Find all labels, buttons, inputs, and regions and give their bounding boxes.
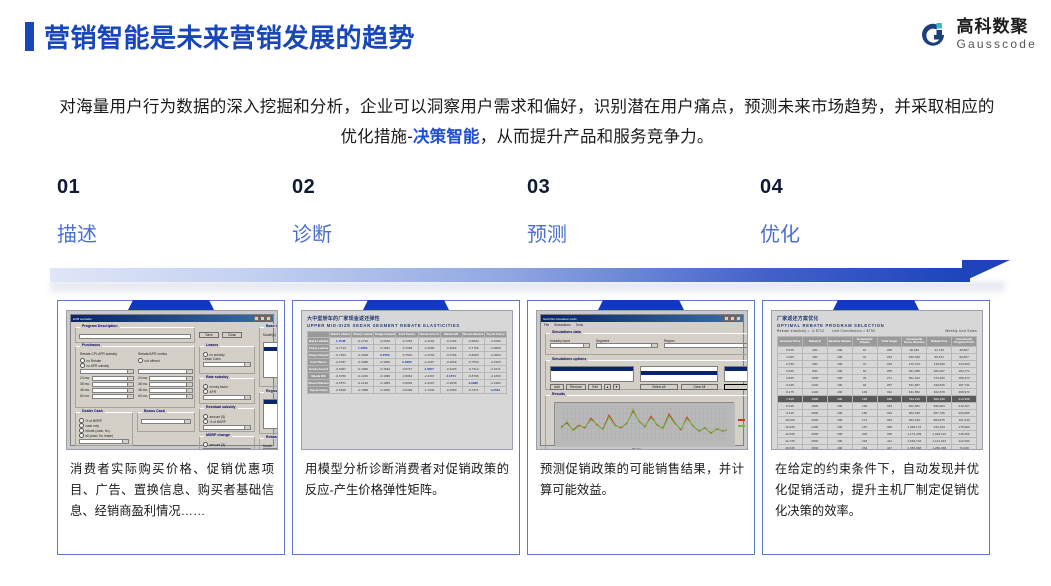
opt-cell: 145,306 <box>952 430 977 437</box>
opt-cell: 380 <box>877 423 902 430</box>
menu-simulations[interactable]: Simulations <box>554 323 570 327</box>
card-caption: 用模型分析诊断消费者对促销政策的反应-产生价格弹性矩阵。 <box>305 459 509 501</box>
matrix-title-cn: 大中型轿车的厂家现金返还弹性 <box>307 315 507 322</box>
matrix-cell: 1.2583 <box>352 345 374 352</box>
matrix-row-header: Buick LeSabre <box>308 338 330 345</box>
matrix-cell: -0.2742 <box>352 338 374 345</box>
table-row: 0.835100019078271451,323270,949180,374 <box>778 374 977 381</box>
matrix-row-header: Honda Accord <box>308 366 330 373</box>
term-60mo: 60 mo. <box>138 394 148 399</box>
opt-cell: 541,587 <box>902 381 927 388</box>
clear-all-button[interactable]: Clear All <box>681 384 719 390</box>
opt-cell: 1,353,968 <box>902 444 927 450</box>
opt-cell: 187,741 <box>952 381 977 388</box>
menu-file[interactable]: File <box>544 323 549 327</box>
elasticity-matrix-table: Buick LeSabreChevy LuminaDodge IntrepidF… <box>307 331 507 394</box>
opt-cell: 94 <box>852 381 877 388</box>
arrow-shadow <box>50 282 1005 296</box>
opt-cell: 2000 <box>802 409 827 416</box>
opt-cell: 270,704 <box>902 360 927 367</box>
models-listbox[interactable] <box>263 342 278 378</box>
matrix-cell: -0.7093 <box>396 345 418 352</box>
opt-cell: 255 <box>877 367 902 374</box>
opt-cell: 427 <box>877 444 902 450</box>
table-row: 0.1751400190109302631,852402,879208,973 <box>778 388 977 395</box>
opt-cell: 1,083,174 <box>902 423 927 430</box>
matrix-cell: -2.1497 <box>418 359 440 366</box>
matrix-cell: -2.1096 <box>484 338 506 345</box>
matrix-cell: -0.6189 <box>396 387 418 394</box>
opt-cell: 90,807 <box>952 353 977 360</box>
matrix-cell: -0.5497 <box>330 366 352 373</box>
opt-cell: 204,885 <box>952 409 977 416</box>
opt-cell: 170,990 <box>952 423 977 430</box>
opt-col-header: Customer Price <box>778 337 803 347</box>
move-down-button[interactable]: ▼ <box>613 384 620 390</box>
group-label: Leases <box>204 343 220 347</box>
opt-cell: 203 <box>852 430 877 437</box>
opt-cell: 271 <box>877 374 902 381</box>
opt-cell: 270,949 <box>927 374 952 381</box>
step-item-04: 04 优化 <box>760 176 800 247</box>
matrix-row-header: Nissan Maxima <box>308 380 330 387</box>
term-24mo: 24 mo. <box>138 376 148 381</box>
screenshot-elasticity-matrix: 大中型轿车的厂家现金返还弹性 UPPER MID-SIZE SEDAN SEGM… <box>301 310 513 450</box>
group-label: Program Description <box>80 324 120 328</box>
table-row: Ford Taurus-0.6787-0.2588-0.18600.9480-2… <box>308 359 507 366</box>
table-row: Buick LeSabre1.1548-0.2742-0.2018-0.7254… <box>308 338 507 345</box>
opt-cell: 206,007 <box>927 367 952 374</box>
paragraph-highlight: 决策智能 <box>413 128 480 146</box>
opt-cell: 302 <box>877 388 902 395</box>
table-row: 13.64530001902344271,353,9681,280,93873,… <box>778 444 977 450</box>
opt-col-header: Incremental Program Profit <box>952 337 977 347</box>
opt-cell: 8.195 <box>778 402 803 409</box>
step-number: 03 <box>527 176 567 199</box>
matrix-cell: -0.6064 <box>396 373 418 380</box>
brand-logo: 高科数聚 Gausscode <box>917 18 1037 50</box>
group-label: Residual subsidy <box>204 405 238 409</box>
opt-cell: 48,607 <box>952 346 977 353</box>
table-row: Mazda 626-0.6766-0.2230-0.1890-0.6064-2.… <box>308 373 507 380</box>
opt-cell: 190 <box>827 444 852 450</box>
group-label: Base incentives <box>264 324 278 328</box>
group-label: MSRP change <box>204 433 232 437</box>
slide-header: 营销智能是未来营销发展的趋势 高科数聚 Gausscode <box>0 0 1051 72</box>
opt-cell: 190 <box>827 416 852 423</box>
opt-cell: 902,645 <box>902 409 927 416</box>
matrix-cell: -0.1860 <box>374 359 396 366</box>
screenshot-simulation-tool: SimCAD simulation tools File Simulations… <box>536 310 748 450</box>
matrix-cell: 4.3257 <box>418 366 440 373</box>
matrix-cell: -0.7371 <box>462 387 484 394</box>
regions-listbox[interactable] <box>263 399 278 429</box>
table-row: 0.9752001901620690,26041,71048,607 <box>778 346 977 353</box>
matrix-cell: -2.2192 <box>418 338 440 345</box>
matrix-cell: 0.9480 <box>396 359 418 366</box>
opt-cell: 340,846 <box>927 381 952 388</box>
add-button[interactable]: Add <box>550 384 564 390</box>
opt-cell: 140 <box>852 402 877 409</box>
matrix-cell: -0.6571 <box>330 380 352 387</box>
opt-cell: 190 <box>827 374 852 381</box>
opt-cell: 3000 <box>802 444 827 450</box>
opt-cell: 1.025 <box>778 353 803 360</box>
step-label: 描述 <box>57 218 97 247</box>
card-caption: 消费者实际购买价格、促销优惠项目、广告、置换信息、购买者基础信息、经销商盈利情况… <box>70 459 274 522</box>
matrix-cell: -0.2838 <box>440 380 462 387</box>
matrix-cell: -0.1869 <box>374 380 396 387</box>
table-row: 10.0252200190171364992,910803,875191,040 <box>778 416 977 423</box>
opt-cell: 402,879 <box>927 388 952 395</box>
opt-title-en: OPTIMAL REBATE PROGRAM SELECTION <box>777 323 977 328</box>
opt-cell: 190 <box>827 346 852 353</box>
group-label: Region(s) <box>264 389 278 393</box>
matrix-cell: -0.2149 <box>352 380 374 387</box>
chart-xlabel: Weeks <box>632 447 641 450</box>
matrix-cell: -0.7706 <box>462 345 484 352</box>
opt-cell: 9.115 <box>778 409 803 416</box>
opt-cell: 1200 <box>802 381 827 388</box>
matrix-cell: -2.1663 <box>484 373 506 380</box>
step-number: 01 <box>57 176 97 199</box>
group-label: Simulations options <box>550 357 588 361</box>
graph-button[interactable]: Graph <box>724 384 748 390</box>
opt-cell: 667,746 <box>927 409 952 416</box>
opt-cell: 600 <box>802 360 827 367</box>
matrix-cell: -2.2606 <box>418 345 440 352</box>
term-48mo: 48 mo. <box>80 388 90 393</box>
step-labels: 01 描述 02 诊断 03 预测 04 优化 <box>0 176 1051 250</box>
legend-label: Dodge Caravan actual <box>747 424 748 428</box>
opt-cell: 218 <box>852 437 877 444</box>
opt-cell: 400 <box>802 353 827 360</box>
matrix-cell: -0.2588 <box>352 359 374 366</box>
opt-col-header: Incremental Gross Revenue <box>902 337 927 347</box>
edit-button[interactable]: Edit <box>588 384 602 390</box>
opt-cell: 206 <box>877 346 902 353</box>
matrix-cell: -2.2337 <box>418 373 440 380</box>
matrix-cell: -0.7500 <box>462 359 484 366</box>
opt-cell: 41,710 <box>927 346 952 353</box>
screenshot-optimization-table: 厂家返还方案优化 OPTIMAL REBATE PROGRAM SELECTIO… <box>771 310 983 450</box>
matrix-cell: -0.6787 <box>330 359 352 366</box>
table-row: 10.93524001901873801,083,174912,184170,9… <box>778 423 977 430</box>
opt-cell: 1400 <box>802 388 827 395</box>
opt-cell: 2600 <box>802 430 827 437</box>
move-up-button[interactable]: ▲ <box>604 384 611 390</box>
simulation-plot <box>554 402 734 446</box>
close-button[interactable]: Close <box>222 332 242 338</box>
opt-cell: 1,141,013 <box>927 437 952 444</box>
arrow-head-icon <box>962 260 1010 282</box>
opt-cell: 0.525 <box>778 367 803 374</box>
matrix-cell: -0.1890 <box>374 373 396 380</box>
opt-cell: 190 <box>827 430 852 437</box>
radio-not-offered[interactable]: not offered <box>138 358 193 363</box>
table-row: 9.1152000190156349902,645667,746204,885 <box>778 409 977 416</box>
remove-button[interactable]: Remove <box>566 384 586 390</box>
step-label: 诊断 <box>292 218 332 247</box>
opt-cell: 722,115 <box>902 395 927 402</box>
card-describe[interactable]: EVB testradio Program Description Save C… <box>57 300 285 555</box>
opt-cell: 912,184 <box>927 423 952 430</box>
term-36mo: 36 mo. <box>80 382 90 387</box>
matrix-cell: -0.2692 <box>440 345 462 352</box>
opt-cell: 140,840 <box>927 360 952 367</box>
table-row: Honda Accord-0.5497-0.1986-0.1542-0.5747… <box>308 366 507 373</box>
matrix-cell: 4.2561 <box>484 387 506 394</box>
opt-cell: 190 <box>827 437 852 444</box>
matrix-cell: -0.1986 <box>352 366 374 373</box>
select-all-button[interactable]: Select All <box>640 384 678 390</box>
matrix-cell: -0.1991 <box>374 345 396 352</box>
matrix-cell: -0.7254 <box>396 338 418 345</box>
page-title: 营销智能是未来营销发展的趋势 <box>44 18 415 55</box>
opt-title-cn: 厂家返还方案优化 <box>777 315 977 322</box>
table-row: Dodge Intrepid-0.7204-0.29280.8752-0.751… <box>308 352 507 359</box>
opt-cell: 364 <box>877 416 902 423</box>
opt-cell: 7.215 <box>778 395 803 402</box>
matrix-cell: -0.8340 <box>462 338 484 345</box>
opt-col-header: Rebate $ <box>802 337 827 347</box>
matrix-cell: -0.7713 <box>330 345 352 352</box>
opt-cell: 0.975 <box>778 346 803 353</box>
radio-apr[interactable]: APR <box>203 389 251 394</box>
opt-cell: 2800 <box>802 437 827 444</box>
opt-cell: 62 <box>852 367 877 374</box>
opt-cell: 0.445 <box>778 381 803 388</box>
slide: 营销智能是未来营销发展的趋势 高科数聚 Gausscode 对海量用户行为数据的… <box>0 0 1051 586</box>
step-number: 02 <box>292 176 332 199</box>
opt-cell: 200 <box>802 346 827 353</box>
opt-cell: 16 <box>852 346 877 353</box>
opt-cell: 171 <box>852 416 877 423</box>
meta-weekly-sales: Weekly Unit Sales <box>945 329 977 333</box>
opt-cell: 190 <box>827 367 852 374</box>
subgroup-label: Rebate CPI-APR subsidy <box>80 352 134 356</box>
opt-cell: 333 <box>877 402 902 409</box>
group-label: Rate subsidy <box>204 375 230 379</box>
table-row: 0.52580019062255361,058206,007154,771 <box>778 367 977 374</box>
term-36mo: 36 mo. <box>138 382 148 387</box>
table-row: 7.2151600190125318722,115509,239213,508 <box>778 395 977 402</box>
table-row: 1.02540019031224180,32989,67290,807 <box>778 353 977 360</box>
matrix-cell: -0.8706 <box>462 373 484 380</box>
subgroup-label: Rebate/APR combo <box>138 352 193 356</box>
opt-cell: 154,771 <box>952 367 977 374</box>
optimization-table: Customer PriceRebate $Baseline VolumeInc… <box>777 336 977 450</box>
table-row: 11.83526001902033961,173,4391,028,122145… <box>778 430 977 437</box>
opt-cell: 240 <box>877 360 902 367</box>
window-title: EVB testradio <box>73 317 92 321</box>
radio-no-apr[interactable]: no APR subsidy <box>80 363 134 368</box>
group-label: Purchases <box>80 343 102 347</box>
matrix-cell: -0.2928 <box>352 352 374 359</box>
opt-col-header: Baseline Volume <box>827 337 852 347</box>
opt-cell: 396 <box>877 430 902 437</box>
opt-cell: 224 <box>877 353 902 360</box>
matrix-cell: -2.3207 <box>418 380 440 387</box>
opt-cell: 1600 <box>802 395 827 402</box>
opt-cell: 1,280,938 <box>927 444 952 450</box>
table-row: 0.445120019094287541,587340,846187,741 <box>778 381 977 388</box>
step-item-01: 01 描述 <box>57 176 97 247</box>
opt-cell: 190 <box>827 409 852 416</box>
matrix-cell: -1.7436 <box>418 387 440 394</box>
opt-cell: 47 <box>852 360 877 367</box>
opt-cell: 2.755 <box>778 360 803 367</box>
opt-cell: 125 <box>852 395 877 402</box>
matrix-cell: -0.1660 <box>374 387 396 394</box>
radio-pct-msrp[interactable]: % of MSRP <box>203 419 251 424</box>
label-models: Model(s) <box>263 333 278 337</box>
opt-cell: 0.175 <box>778 388 803 395</box>
opt-col-header: Total Target <box>877 337 902 347</box>
opt-cell: 112,690 <box>952 437 977 444</box>
matrix-cell: -0.8490 <box>462 352 484 359</box>
step-item-02: 02 诊断 <box>292 176 332 247</box>
matrix-cell: -0.2293 <box>440 366 462 373</box>
term-60mo: 60 mo. <box>80 394 90 399</box>
matrix-cell: -2.0602 <box>484 352 506 359</box>
logo-text-en: Gausscode <box>956 38 1037 50</box>
meta-contribution: Unit Contribution = $790 <box>832 329 875 333</box>
matrix-cell: -2.0808 <box>484 345 506 352</box>
meta-elasticity: Rebate elasticity = -0.8712 <box>777 329 824 333</box>
matrix-cell: -0.5747 <box>396 366 418 373</box>
matrix-cell: -0.2230 <box>352 373 374 380</box>
radio-amount[interactable]: amount ($) <box>203 442 251 447</box>
legend-item-actual: Dodge Caravan actual <box>738 424 748 428</box>
matrix-cell: -0.2794 <box>440 338 462 345</box>
opt-cell: 509,239 <box>927 395 952 402</box>
logo-text-cn: 高科数聚 <box>956 18 1037 35</box>
matrix-row-header: Toyota Camry <box>308 387 330 394</box>
matrix-cell: -2.3702 <box>418 352 440 359</box>
opt-cell: 208,973 <box>952 388 977 395</box>
matrix-cell: -0.7204 <box>330 352 352 359</box>
menu-tools[interactable]: Tools <box>576 323 583 327</box>
opt-cell: 190 <box>827 388 852 395</box>
arrow-bar <box>50 268 970 282</box>
opt-col-header: Rebate Cost <box>927 337 952 347</box>
group-label: Simulations data <box>550 330 583 334</box>
opt-cell: 180,329 <box>902 353 927 360</box>
matrix-cell: -0.5645 <box>330 387 352 394</box>
models-listbox[interactable] <box>640 366 718 382</box>
step-number: 04 <box>760 176 800 199</box>
simulations-listbox[interactable] <box>550 366 634 382</box>
group-label: Bonus Cash <box>142 409 167 413</box>
opt-cell: 0.835 <box>778 374 803 381</box>
opt-cell: 411 <box>877 437 902 444</box>
save-button[interactable]: Save <box>199 332 219 338</box>
segment-select[interactable] <box>596 343 658 348</box>
matrix-title-en: UPPER MID-SIZE SEDAN SEGMENT REBATE ELAS… <box>307 323 507 328</box>
matrix-cell: 0.8752 <box>374 352 396 359</box>
matrix-cell: -2.2271 <box>484 366 506 373</box>
table-row: 2.75560019047240270,704140,840134,900 <box>778 360 977 367</box>
matrix-cell: -0.2380 <box>440 387 462 394</box>
opt-cell: 11.835 <box>778 430 803 437</box>
table-row: Toyota Camry-0.5645-0.1988-0.1660-0.6189… <box>308 387 507 394</box>
opt-cell: 156 <box>852 409 877 416</box>
group-label: Results <box>550 392 567 396</box>
opt-cell: 812,381 <box>902 402 927 409</box>
matrix-cell: -0.2669 <box>440 359 462 366</box>
opt-cell: 89,672 <box>927 353 952 360</box>
group-label: Rebase incentives <box>264 435 278 439</box>
step-item-03: 03 预测 <box>527 176 567 247</box>
opt-cell: 190 <box>827 395 852 402</box>
card-predict[interactable]: SimCAD simulation tools File Simulations… <box>527 300 755 555</box>
opt-cell: 287 <box>877 381 902 388</box>
step-label: 预测 <box>527 218 567 247</box>
matrix-cell: -2.1925 <box>484 359 506 366</box>
opt-cell: 190 <box>827 402 852 409</box>
opt-cell: 31 <box>852 353 877 360</box>
legend-label: Dodge Caravan sim <box>747 418 748 422</box>
opt-cell: 190 <box>827 360 852 367</box>
opt-meta: Rebate elasticity = -0.8712 Unit Contrib… <box>777 329 977 333</box>
opt-cell: 10.025 <box>778 416 803 423</box>
opt-cell: 599,904 <box>927 402 952 409</box>
progress-arrow <box>50 262 1010 290</box>
matrix-cell: -0.6062 <box>396 380 418 387</box>
matrix-cell: -0.2018 <box>374 338 396 345</box>
card-caption: 预测促销政策的可能销售结果，并计算可能效益。 <box>540 459 744 501</box>
matrix-row-header: Ford Taurus <box>308 359 330 366</box>
opt-cell: 1800 <box>802 402 827 409</box>
opt-cell: 1000 <box>802 374 827 381</box>
opt-cell: 451,323 <box>902 374 927 381</box>
region-select[interactable] <box>664 343 748 348</box>
matrix-cell: 1.1548 <box>330 338 352 345</box>
opt-cell: 361,058 <box>902 367 927 374</box>
opt-cell: 631,852 <box>902 388 927 395</box>
opt-cell: 134,900 <box>952 360 977 367</box>
opt-cell: 212,427 <box>952 402 977 409</box>
legend-item-sim: Dodge Caravan sim <box>738 418 748 422</box>
card-diagnose[interactable]: 大中型轿车的厂家现金返还弹性 UPPER MID-SIZE SEDAN SEGM… <box>292 300 520 555</box>
card-optimize[interactable]: 厂家返还方案优化 OPTIMAL REBATE PROGRAM SELECTIO… <box>762 300 990 555</box>
matrix-cell: -0.1542 <box>374 366 396 373</box>
table-row: Chevy Lumina-0.77131.2583-0.1991-0.7093-… <box>308 345 507 352</box>
radio-lease-only[interactable]: all (cash, fin, lease) <box>79 433 129 438</box>
paragraph-part-2: ，从而提升产品和服务竞争力。 <box>480 128 714 146</box>
opt-cell: 191,040 <box>952 416 977 423</box>
term-48mo: 48 mo. <box>138 388 148 393</box>
title-accent-bar <box>25 22 34 51</box>
matrix-cell: -0.2794 <box>440 352 462 359</box>
opt-cell: 213,508 <box>952 395 977 402</box>
opt-cell: 800 <box>802 367 827 374</box>
opt-cell: 73,030 <box>952 444 977 450</box>
metrics-listbox[interactable] <box>724 366 748 382</box>
group-label: Dealer Cash <box>80 409 105 413</box>
opt-cell: 12.735 <box>778 437 803 444</box>
matrix-row-header: Dodge Intrepid <box>308 352 330 359</box>
term-24mo: 24 mo. <box>80 376 90 381</box>
matrix-cell: 0.6980 <box>462 380 484 387</box>
opt-cell: 10.935 <box>778 423 803 430</box>
intro-paragraph: 对海量用户行为数据的深入挖掘和分析，企业可以洞察用户需求和偏好，识别潜在用户痛点… <box>52 92 1002 152</box>
matrix-cell: -0.1988 <box>352 387 374 394</box>
opt-cell: 190 <box>827 353 852 360</box>
matrix-row-header: Chevy Lumina <box>308 345 330 352</box>
opt-cell: 1,173,439 <box>902 430 927 437</box>
